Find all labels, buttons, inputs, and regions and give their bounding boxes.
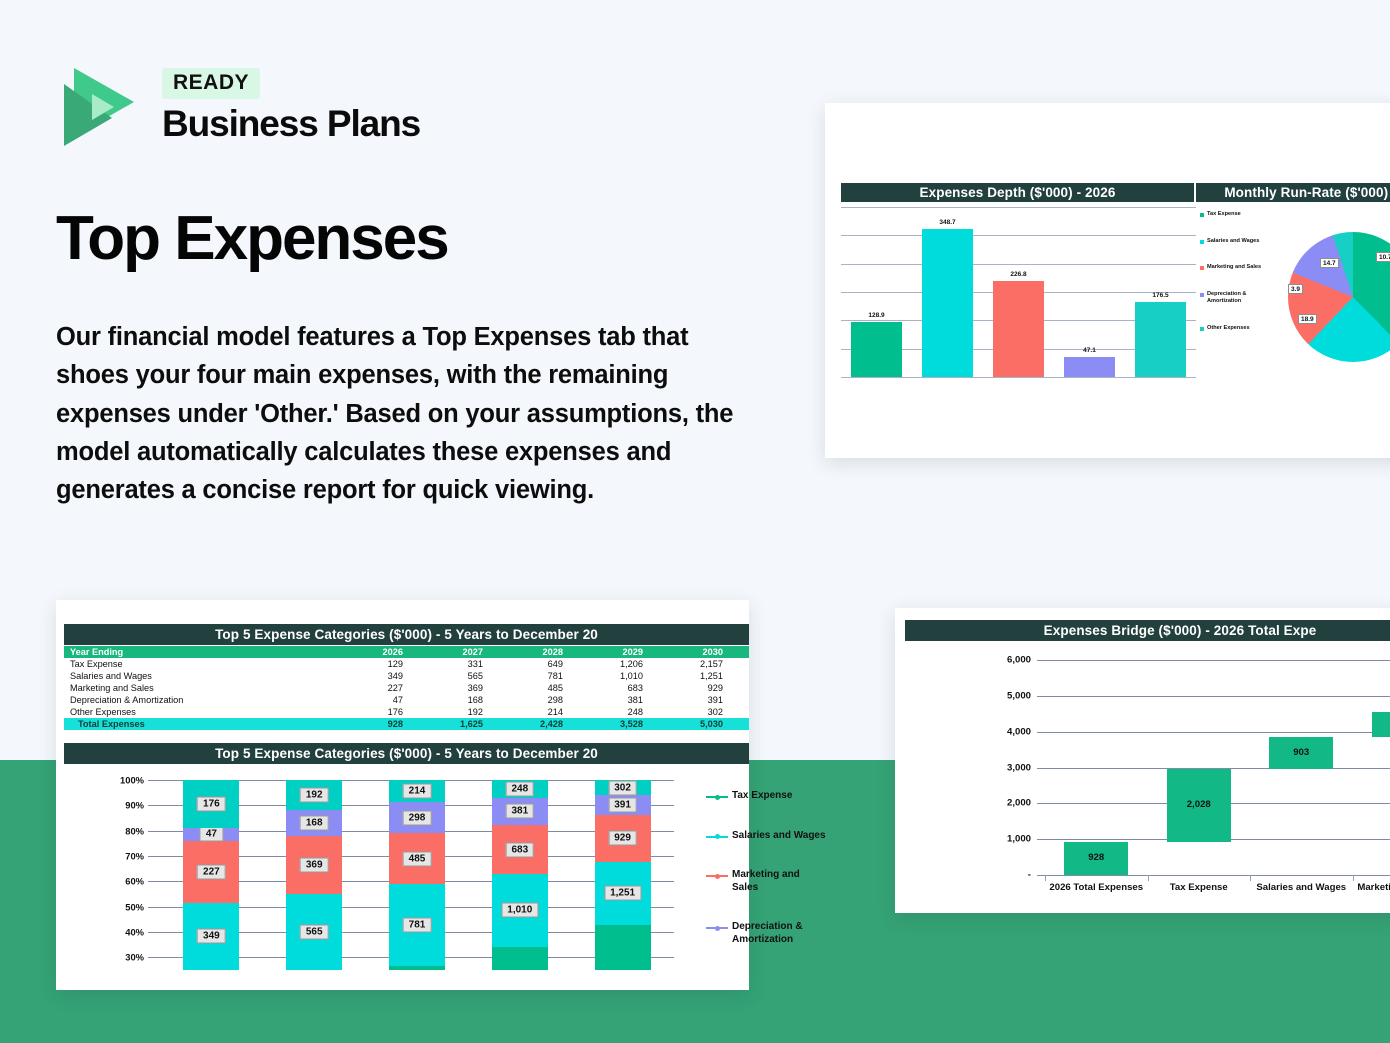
cell: 391	[669, 694, 749, 706]
segment-value-label: 176	[197, 797, 226, 812]
waterfall-bar-4: 702	[1372, 712, 1390, 737]
bar-2	[922, 229, 973, 377]
row-label: Salaries and Wages	[64, 670, 349, 682]
depth-card-titlebar: Expenses Depth ($'000) - 2026 Monthly Ru…	[841, 183, 1390, 202]
cell: 331	[429, 658, 509, 670]
total-cell: 2,428	[509, 718, 589, 730]
cell: 1,010	[589, 670, 669, 682]
cell: 349	[349, 670, 429, 682]
cell: 381	[589, 694, 669, 706]
legend-label: Depreciation & Amortization	[1207, 291, 1275, 306]
cell: 1,251	[669, 670, 749, 682]
page-title: Top Expenses	[56, 203, 448, 274]
cell: 683	[589, 682, 669, 694]
y-axis-tick: 6,000	[1007, 655, 1031, 666]
total-label: Total Expenses	[64, 718, 349, 730]
legend-item: Other Expenses	[1200, 325, 1275, 333]
legend-item: Marketing and Sales	[706, 869, 826, 894]
cell: 248	[589, 706, 669, 718]
gridline	[1037, 875, 1390, 876]
expenses-bridge-title: Expenses Bridge ($'000) - 2026 Total Exp…	[905, 620, 1390, 641]
legend-swatch	[1200, 293, 1204, 297]
cell: 565	[429, 670, 509, 682]
y-axis-tick: 100%	[120, 775, 144, 786]
x-axis-tick	[1353, 875, 1354, 881]
segment-value-label: 47	[200, 827, 223, 842]
total-cell: 1,625	[429, 718, 509, 730]
legend-dot	[715, 926, 720, 931]
table-header-row: Year Ending 2026 2027 2028 2029 2030	[64, 646, 749, 658]
y-axis-tick: 70%	[125, 851, 144, 862]
legend-marker	[706, 923, 728, 932]
gridline	[1037, 732, 1390, 733]
top-expense-categories-card: Top 5 Expense Categories ($'000) - 5 Yea…	[56, 600, 749, 990]
segment-value-label: 1,251	[604, 886, 641, 901]
segment-value-label: 683	[505, 842, 534, 857]
stacked-column: 1,010683381248	[492, 780, 548, 970]
bar-value-label: 348.7	[922, 219, 973, 226]
segment-value-label: 302	[608, 780, 637, 795]
cell: 369	[429, 682, 509, 694]
segment-value-label: 227	[197, 864, 226, 879]
x-axis-tick	[1045, 875, 1046, 881]
segment-value-label: 168	[300, 816, 329, 831]
y-axis-tick: 5,000	[1007, 690, 1031, 701]
segment-1	[492, 947, 548, 970]
y-axis-tick: 2,000	[1007, 798, 1031, 809]
segment-value-label: 929	[608, 831, 637, 846]
cell: 781	[509, 670, 589, 682]
table-total-row: Total Expenses 928 1,625 2,428 3,528 5,0…	[64, 718, 749, 730]
table-row: Depreciation & Amortization 47 168 298 3…	[64, 694, 749, 706]
pie-value-label: 3.9	[1288, 284, 1303, 294]
y-axis-tick: 1,000	[1007, 834, 1031, 845]
cell: 192	[429, 706, 509, 718]
pie-value-label: 10.7	[1376, 252, 1390, 262]
segment-1	[389, 966, 445, 970]
legend-marker	[706, 792, 728, 801]
legend-swatch	[1200, 327, 1204, 331]
segment-value-label: 1,010	[501, 903, 538, 918]
bar-value-label: 903	[1293, 747, 1309, 758]
legend-dot	[715, 834, 720, 839]
brand-lockup: READY Business Plans	[56, 58, 420, 154]
y-axis-tick: 4,000	[1007, 726, 1031, 737]
legend-label: Other Expenses	[1207, 325, 1250, 333]
legend-label: Tax Expense	[1207, 211, 1241, 219]
legend-dot	[715, 795, 720, 800]
cell: 302	[669, 706, 749, 718]
segment-1	[595, 925, 651, 970]
segment-value-label: 192	[300, 787, 329, 802]
segment-value-label: 781	[403, 917, 432, 932]
waterfall-bar-3: 903	[1269, 737, 1333, 769]
cell: 214	[509, 706, 589, 718]
cell: 129	[349, 658, 429, 670]
y-axis-tick: 3,000	[1007, 762, 1031, 773]
gridline	[1037, 696, 1390, 697]
expenses-bridge-card: Expenses Bridge ($'000) - 2026 Total Exp…	[895, 608, 1390, 913]
legend-label: Salaries and Wages	[1207, 238, 1259, 246]
y-axis-tick: -	[1028, 870, 1031, 881]
legend-swatch	[1200, 266, 1204, 270]
gridline	[841, 264, 1196, 265]
bar-5	[1135, 302, 1186, 377]
legend-label: Salaries and Wages	[732, 830, 826, 843]
y-axis-tick: 60%	[125, 876, 144, 887]
cell: 649	[509, 658, 589, 670]
y-axis-tick: 80%	[125, 825, 144, 836]
expenses-depth-title: Expenses Depth ($'000) - 2026	[841, 183, 1196, 202]
table-row: Salaries and Wages 349 565 781 1,010 1,2…	[64, 670, 749, 682]
bar-4	[1064, 357, 1115, 377]
expenses-depth-card: Expenses Depth ($'000) - 2026 Monthly Ru…	[825, 103, 1390, 458]
table-row: Other Expenses 176 192 214 248 302	[64, 706, 749, 718]
pie-value-label: 14.7	[1320, 258, 1339, 268]
expense-table: Year Ending 2026 2027 2028 2029 2030 Tax…	[64, 646, 749, 730]
segment-value-label: 381	[505, 804, 534, 819]
expenses-depth-legend: Tax ExpenseSalaries and WagesMarketing a…	[1200, 211, 1275, 351]
play-triangle-logo	[56, 58, 144, 154]
table-foot: Total Expenses 928 1,625 2,428 3,528 5,0…	[64, 718, 749, 730]
table-header-year-ending: Year Ending	[64, 646, 349, 658]
page-description: Our financial model features a Top Expen…	[56, 318, 756, 509]
cell: 168	[429, 694, 509, 706]
gridline	[841, 235, 1196, 236]
bar-value-label: 176.5	[1135, 292, 1186, 299]
legend-item: Depreciation & Amortization	[1200, 291, 1275, 306]
pie-slices	[1288, 232, 1390, 362]
legend-item: Salaries and Wages	[706, 830, 826, 843]
stacked-column: 1,251929391302	[595, 780, 651, 970]
table-header-2029: 2029	[589, 646, 669, 658]
total-cell: 5,030	[669, 718, 749, 730]
expenses-bridge-chart: 6,0005,0004,0003,0002,0001,000-9282026 T…	[1045, 660, 1390, 875]
pie-value-label: 18.9	[1298, 314, 1317, 324]
waterfall-bar-1: 928	[1064, 842, 1128, 875]
x-axis-label: Marketing and Sales	[1357, 882, 1390, 893]
expenses-depth-chart: 128.9348.7226.847.1176.5	[841, 207, 1196, 377]
gridline	[1037, 660, 1390, 661]
legend-item: Tax Expense	[1200, 211, 1275, 219]
segment-value-label: 214	[403, 784, 432, 799]
cell: 2,157	[669, 658, 749, 670]
legend-label: Marketing and Sales	[1207, 264, 1261, 272]
bar-1	[851, 322, 902, 377]
row-label: Marketing and Sales	[64, 682, 349, 694]
expense-table-title: Top 5 Expense Categories ($'000) - 5 Yea…	[64, 624, 749, 645]
stacked-chart-title: Top 5 Expense Categories ($'000) - 5 Yea…	[64, 743, 749, 764]
stacked-chart-legend: Tax ExpenseSalaries and WagesMarketing a…	[706, 790, 826, 973]
stacked-column: 781485298214	[389, 780, 445, 970]
segment-value-label: 298	[403, 810, 432, 825]
y-axis-tick: 90%	[125, 800, 144, 811]
monthly-runrate-title: Monthly Run-Rate ($'000) -	[1196, 183, 1390, 202]
table-row: Tax Expense 129 331 649 1,206 2,157	[64, 658, 749, 670]
cell: 227	[349, 682, 429, 694]
legend-label: Marketing and Sales	[732, 869, 826, 894]
cell: 47	[349, 694, 429, 706]
legend-item: Marketing and Sales	[1200, 264, 1275, 272]
y-axis-tick: 40%	[125, 927, 144, 938]
ready-badge: READY	[162, 68, 260, 99]
total-cell: 928	[349, 718, 429, 730]
x-axis-tick	[1148, 875, 1149, 881]
bar-3	[993, 281, 1044, 377]
gridline	[841, 377, 1196, 378]
stacked-column: 34922747176	[183, 780, 239, 970]
segment-value-label: 349	[197, 929, 226, 944]
table-header-2030: 2030	[669, 646, 749, 658]
table-head: Year Ending 2026 2027 2028 2029 2030	[64, 646, 749, 658]
bar-value-label: 128.9	[851, 312, 902, 319]
cell: 176	[349, 706, 429, 718]
x-axis-label: Salaries and Wages	[1256, 882, 1346, 893]
legend-label: Depreciation & Amortization	[732, 921, 826, 946]
legend-label: Tax Expense	[732, 790, 792, 803]
brand-name: Business Plans	[162, 103, 420, 145]
legend-item: Tax Expense	[706, 790, 826, 803]
legend-item: Salaries and Wages	[1200, 238, 1275, 246]
x-axis-label: 2026 Total Expenses	[1049, 882, 1143, 893]
y-axis-tick: 30%	[125, 952, 144, 963]
segment-value-label: 248	[505, 781, 534, 796]
segment-value-label: 391	[608, 798, 637, 813]
segment-value-label: 565	[300, 924, 329, 939]
stacked-bar-chart: 100%90%80%70%60%50%40%30%349227471765653…	[160, 780, 674, 970]
monthly-runrate-pie-chart: 18.914.710.73.9	[1280, 228, 1390, 373]
row-label: Other Expenses	[64, 706, 349, 718]
waterfall-bar-2: 2,028	[1167, 769, 1231, 842]
legend-marker	[706, 832, 728, 841]
cell: 298	[509, 694, 589, 706]
table-header-2026: 2026	[349, 646, 429, 658]
legend-dot	[715, 874, 720, 879]
bar-value-label: 226.8	[993, 271, 1044, 278]
bar-value-label: 928	[1088, 852, 1104, 863]
table-header-2028: 2028	[509, 646, 589, 658]
legend-swatch	[1200, 240, 1204, 244]
cell: 1,206	[589, 658, 669, 670]
table-row: Marketing and Sales 227 369 485 683 929	[64, 682, 749, 694]
y-axis-tick: 50%	[125, 901, 144, 912]
segment-value-label: 485	[403, 851, 432, 866]
segment-value-label: 369	[300, 857, 329, 872]
row-label: Depreciation & Amortization	[64, 694, 349, 706]
gridline	[841, 207, 1196, 208]
total-cell: 3,528	[589, 718, 669, 730]
x-axis-label: Tax Expense	[1170, 882, 1228, 893]
table-body: Tax Expense 129 331 649 1,206 2,157 Sala…	[64, 658, 749, 718]
cell: 929	[669, 682, 749, 694]
legend-marker	[706, 871, 728, 880]
legend-swatch	[1200, 213, 1204, 217]
row-label: Tax Expense	[64, 658, 349, 670]
stacked-column: 565369168192	[286, 780, 342, 970]
table-header-2027: 2027	[429, 646, 509, 658]
bar-value-label: 47.1	[1064, 347, 1115, 354]
cell: 485	[509, 682, 589, 694]
bar-value-label: 2,028	[1187, 799, 1211, 810]
x-axis-tick	[1250, 875, 1251, 881]
legend-item: Depreciation & Amortization	[706, 921, 826, 946]
